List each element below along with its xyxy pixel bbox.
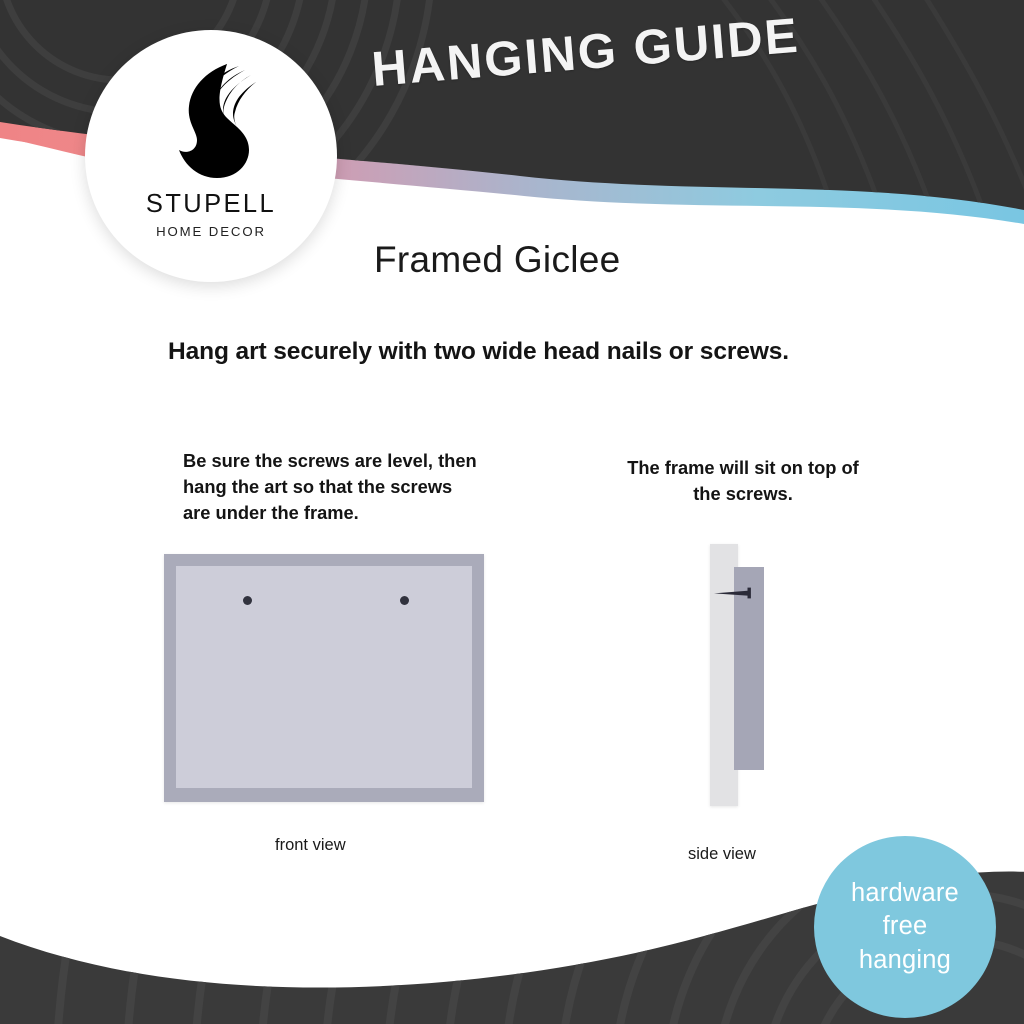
promo-badge-line: hanging <box>859 944 951 978</box>
front-view-diagram <box>164 554 484 802</box>
screw-dot-icon <box>400 596 409 605</box>
brand-tagline: HOME DECOR <box>156 225 266 238</box>
promo-badge-line: free <box>883 910 928 944</box>
page-title: HANGING GUIDE <box>370 0 893 98</box>
product-type-heading: Framed Giclee <box>374 239 621 281</box>
brand-logo-badge: STUPELL HOME DECOR <box>85 30 337 282</box>
brand-name: STUPELL <box>146 192 276 218</box>
nail-icon <box>713 587 759 599</box>
front-view-caption: Be sure the screws are level, then hang … <box>183 448 483 526</box>
promo-badge-line: hardware <box>851 877 959 911</box>
front-view-mat <box>176 566 472 788</box>
primary-instruction: Hang art securely with two wide head nai… <box>168 338 789 366</box>
side-view-diagram <box>710 544 778 806</box>
side-view-label: side view <box>688 845 756 864</box>
screw-dot-icon <box>243 596 252 605</box>
front-view-label: front view <box>275 836 346 855</box>
stupell-swan-s-icon <box>155 60 267 188</box>
side-view-caption: The frame will sit on top of the screws. <box>613 455 873 507</box>
promo-badge: hardware free hanging <box>814 836 996 1018</box>
hanging-guide-page: STUPELL HOME DECOR HANGING GUIDE Framed … <box>0 0 1024 1024</box>
